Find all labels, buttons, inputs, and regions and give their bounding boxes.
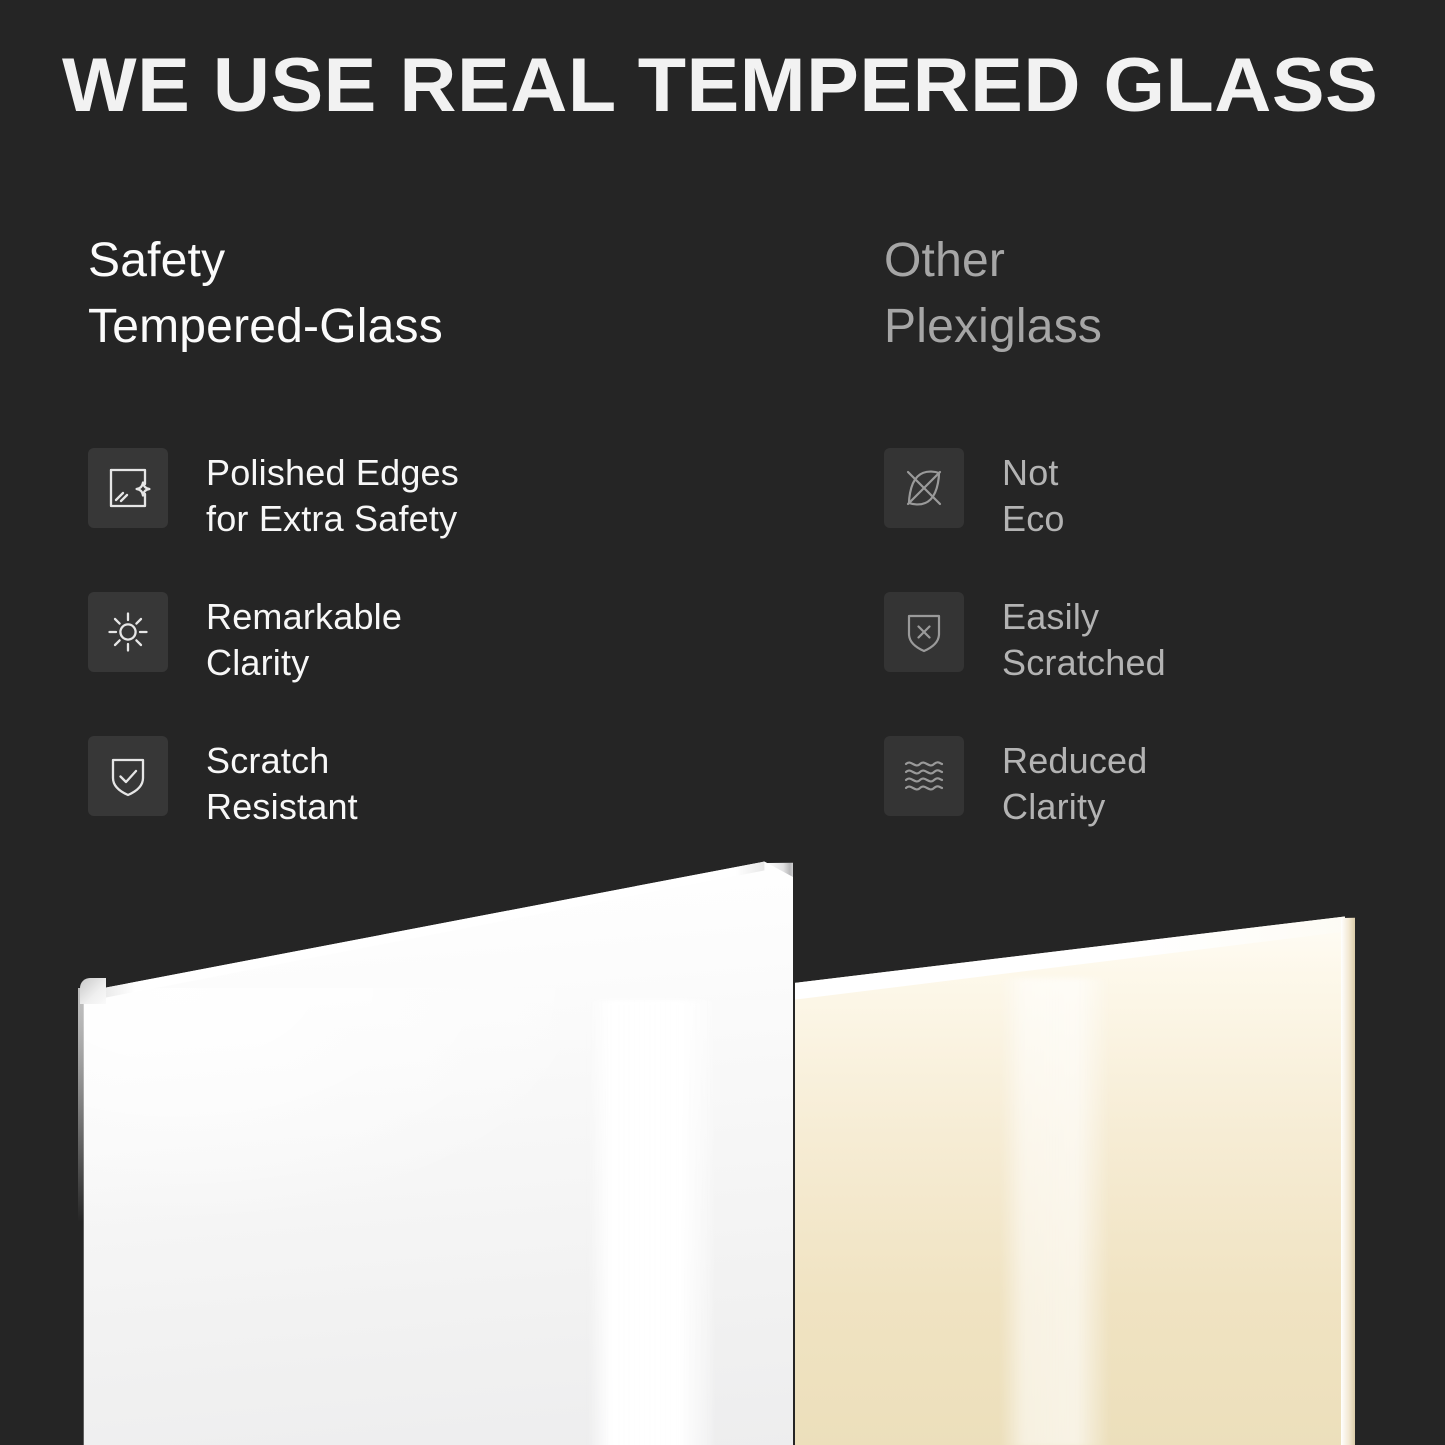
sun-clarity-icon	[88, 592, 168, 672]
feature-label: Scratch Resistant	[206, 736, 358, 830]
shield-check-icon	[88, 736, 168, 816]
column-heading-right: Other Plexiglass	[884, 228, 1445, 360]
column-safety-tempered-glass: Safety Tempered-Glass Polished Edges for…	[88, 228, 688, 360]
feature-list-left: Polished Edges for Extra Safety	[88, 448, 688, 880]
wavy-lines-blur-icon	[884, 736, 964, 816]
page-title: WE USE REAL TEMPERED GLASS	[62, 40, 1445, 132]
shield-x-icon	[884, 592, 964, 672]
feature-label: Not Eco	[1002, 448, 1065, 542]
feature-row: Not Eco	[884, 448, 1445, 592]
feature-row: Easily Scratched	[884, 592, 1445, 736]
feature-row: Polished Edges for Extra Safety	[88, 448, 688, 592]
feature-label: Easily Scratched	[1002, 592, 1166, 686]
column-heading-left: Safety Tempered-Glass	[88, 228, 688, 360]
plexiglass-panel-right-edge	[1341, 918, 1355, 1445]
feature-list-right: Not Eco Easily Scratched	[884, 448, 1445, 880]
feature-label: Remarkable Clarity	[206, 592, 402, 686]
tempered-glass-panel-corner	[80, 978, 106, 1004]
product-photo	[0, 848, 1445, 1445]
column-other-plexiglass: Other Plexiglass Not Eco	[884, 228, 1445, 360]
feature-label: Reduced Clarity	[1002, 736, 1148, 830]
polished-glass-sparkle-icon	[88, 448, 168, 528]
comparison-columns: Safety Tempered-Glass Polished Edges for…	[0, 228, 1445, 848]
tempered-glass-panel-reflection	[588, 1000, 713, 1445]
feature-row: Remarkable Clarity	[88, 592, 688, 736]
plexiglass-panel-reflection	[1000, 978, 1110, 1445]
leaf-slash-icon	[884, 448, 964, 528]
feature-label: Polished Edges for Extra Safety	[206, 448, 459, 542]
